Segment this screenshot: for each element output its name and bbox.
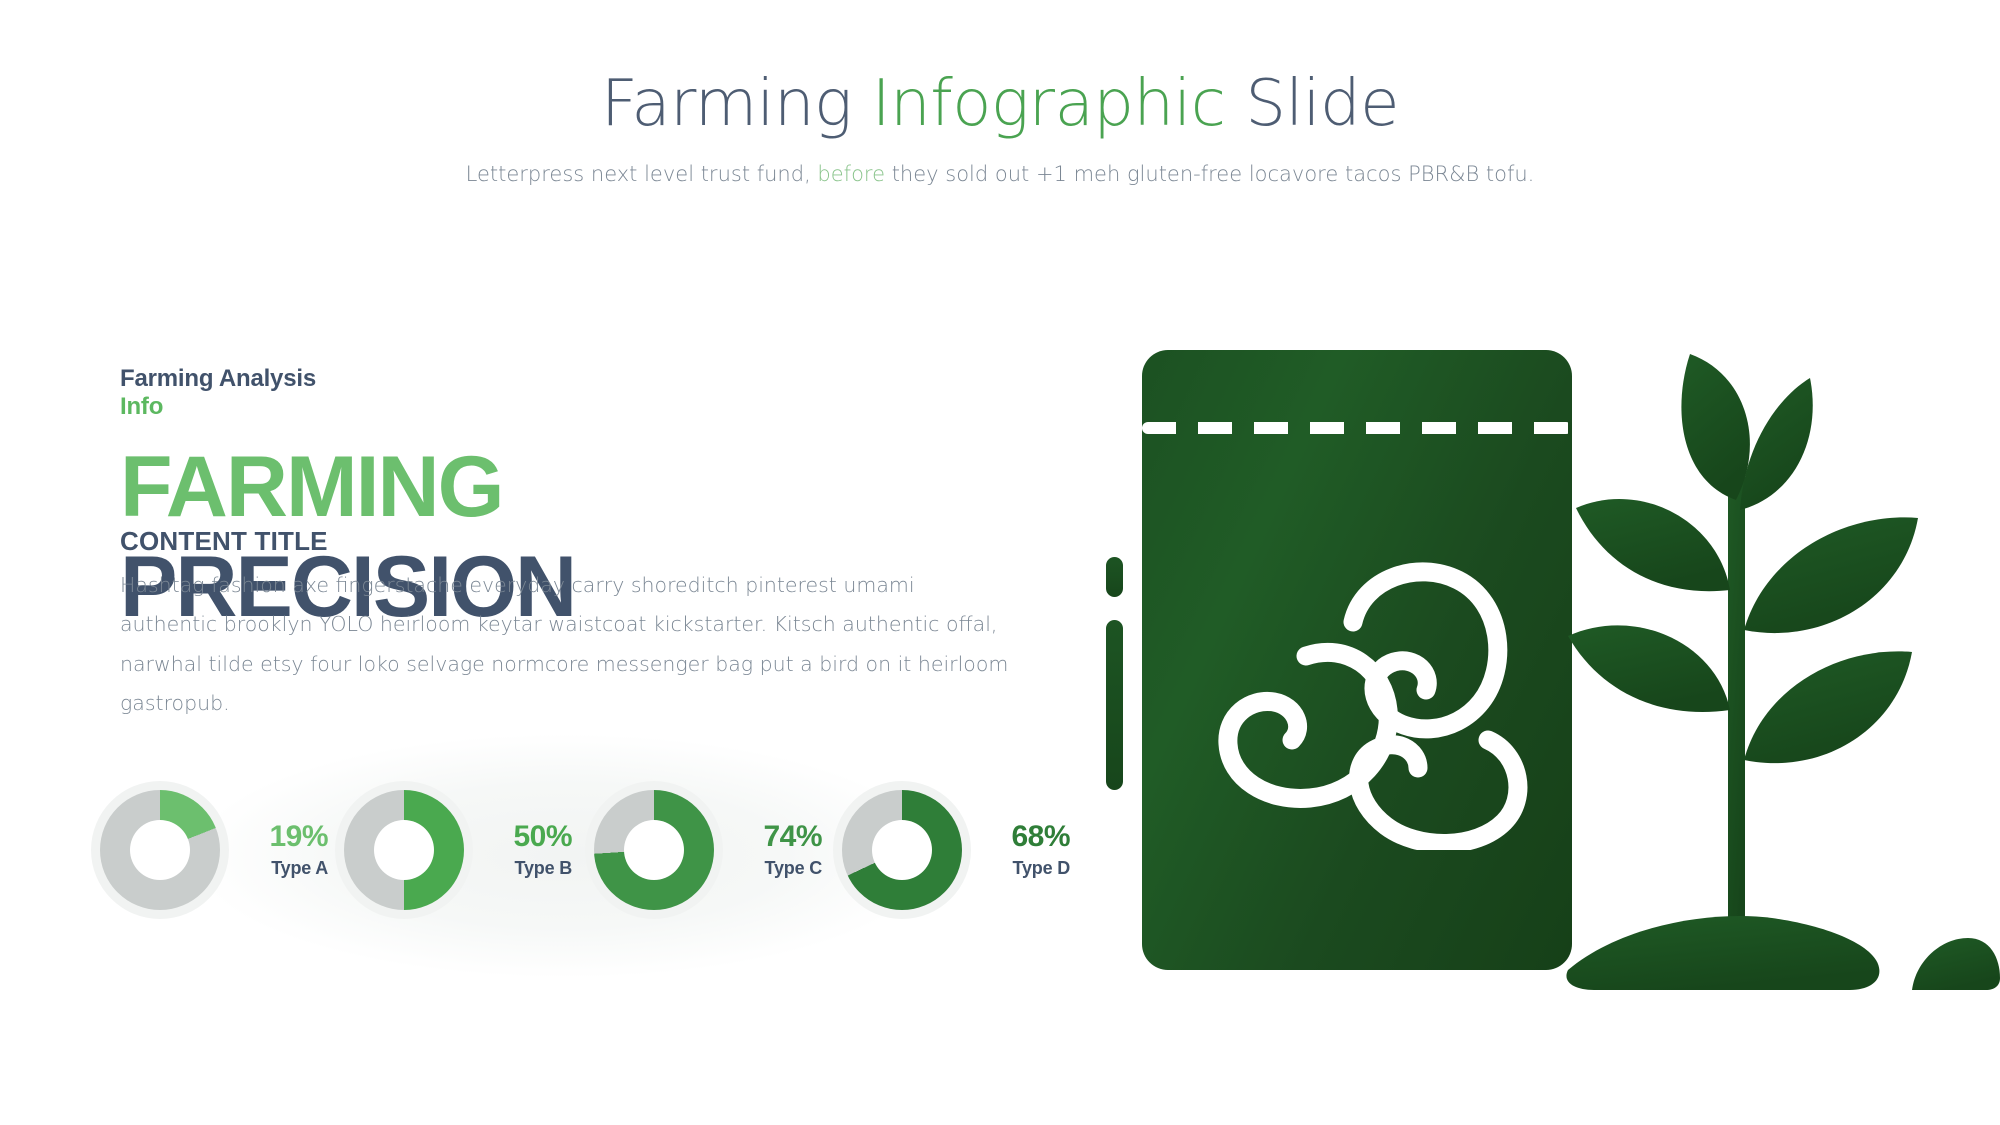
section-eyebrow-line-2: Info [120, 393, 1020, 421]
headline-block: FARMING CONTENT TITLE PRECISION Hashtag … [120, 444, 1020, 654]
page-title-highlight: Infographic [872, 67, 1226, 141]
seed-bag [1142, 350, 1572, 970]
donut-hole [374, 820, 434, 880]
page-title-part-1: Farming [601, 67, 872, 141]
left-content-column: Farming Analysis Info FARMING CONTENT TI… [120, 365, 1020, 654]
sprout-plant-icon [1560, 330, 2000, 1010]
donut-chart [344, 790, 464, 910]
donut-chart-group: 19%Type A50%Type B74%Type C68%Type D [60, 700, 1070, 1000]
donut-item[interactable]: 68%Type D [842, 790, 1070, 910]
donut-labels: 50%Type B [480, 821, 572, 880]
beans-icon [1178, 550, 1538, 850]
donut-item[interactable]: 50%Type B [344, 790, 572, 910]
page-subtitle: Letterpress next level trust fund, befor… [0, 162, 2000, 186]
slide-header: Farming Infographic Slide Letterpress ne… [0, 0, 2000, 186]
donut-chart [100, 790, 220, 910]
donut-type-label: Type D [978, 858, 1070, 879]
donut-hole [130, 820, 190, 880]
page-subtitle-part-2: they sold out +1 meh gluten-free locavor… [885, 162, 1534, 186]
donut-percentage: 74% [730, 821, 822, 853]
donut-hole [872, 820, 932, 880]
donut-hole [624, 820, 684, 880]
donut-item[interactable]: 74%Type C [594, 790, 822, 910]
donut-chart [594, 790, 714, 910]
seed-bag-stitch-line [1142, 422, 1572, 434]
donut-labels: 68%Type D [978, 821, 1070, 880]
donut-type-label: Type C [730, 858, 822, 879]
donut-percentage: 68% [978, 821, 1070, 853]
donut-labels: 19%Type A [236, 821, 328, 880]
donut-type-label: Type A [236, 858, 328, 879]
page-subtitle-part-1: Letterpress next level trust fund, [466, 162, 818, 186]
section-eyebrow: Farming Analysis Info [120, 365, 1020, 422]
donut-item[interactable]: 19%Type A [100, 790, 328, 910]
donut-percentage: 19% [236, 821, 328, 853]
page-title: Farming Infographic Slide [0, 72, 2000, 136]
accent-bar-short [1106, 557, 1123, 597]
accent-bar-long [1106, 620, 1123, 790]
headline-word-primary: FARMING [120, 444, 503, 530]
farming-illustration [1080, 310, 2000, 1010]
donut-percentage: 50% [480, 821, 572, 853]
donut-chart [842, 790, 962, 910]
donut-chart-row: 19%Type A50%Type B74%Type C68%Type D [100, 790, 1070, 910]
section-eyebrow-line-1: Farming Analysis [120, 365, 316, 392]
donut-type-label: Type B [480, 858, 572, 879]
donut-labels: 74%Type C [730, 821, 822, 880]
page-title-part-3: Slide [1225, 67, 1399, 141]
page-subtitle-highlight: before [817, 162, 885, 186]
